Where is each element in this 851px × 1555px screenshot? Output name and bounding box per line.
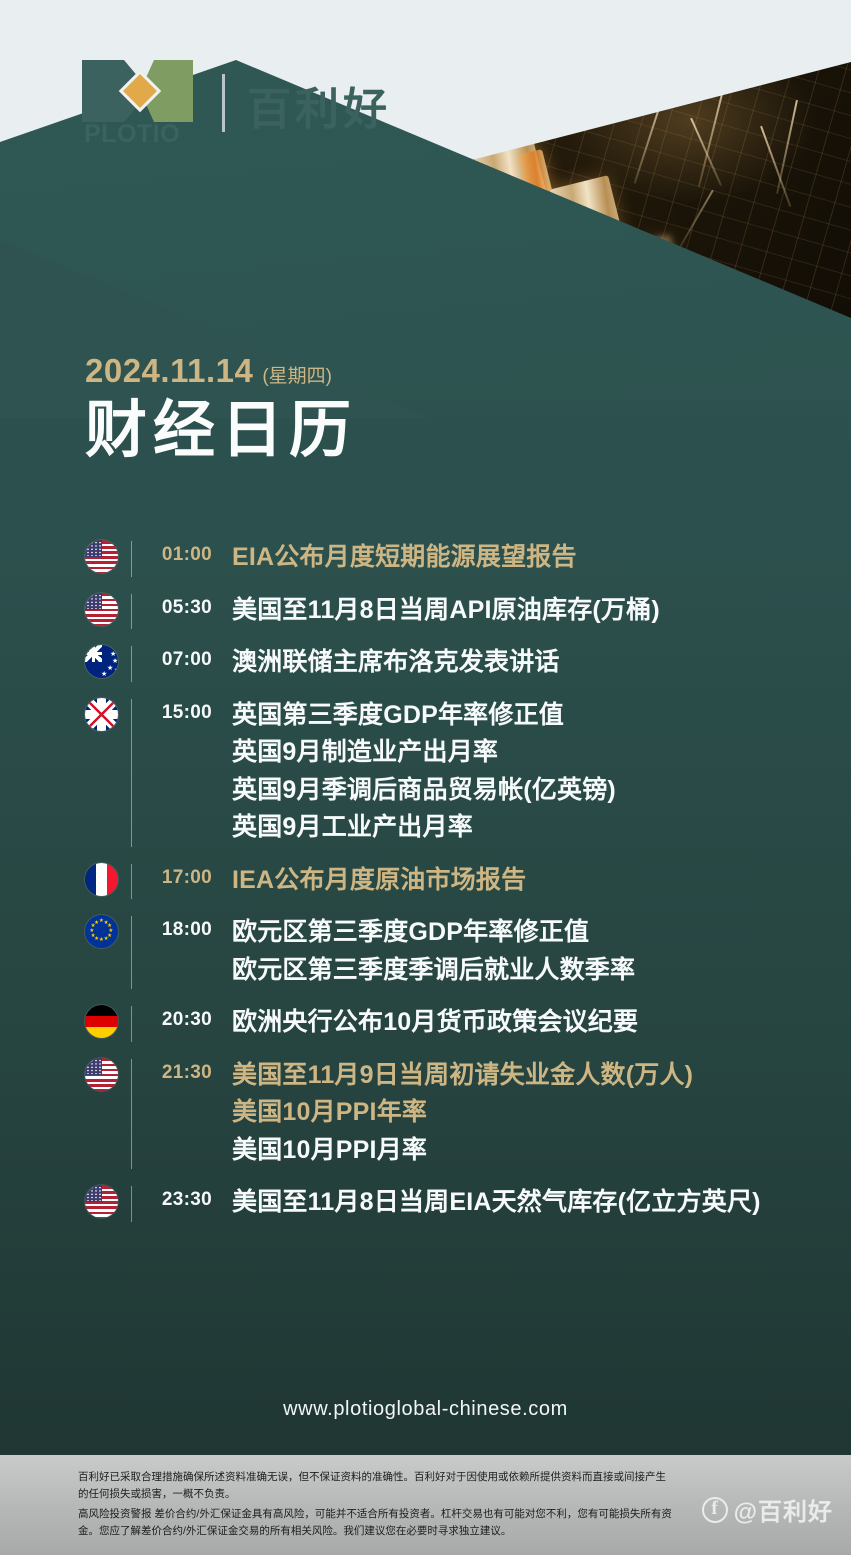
disclaimer-line-3: 高风险投资警报 差价合约/外汇保证金具有高风险，可能并不适合所有投资者。杠杆交易… — [78, 1506, 791, 1523]
logo-mark-icon: PLOTIO — [82, 60, 204, 146]
disclaimer-line-2: 的任何损失或损害，一概不负责。 — [78, 1486, 791, 1503]
event-row: 01:00EIA公布月度短期能源展望报告 — [0, 538, 851, 577]
event-titles: 美国至11月9日当周初请失业金人数(万人)美国10月PPI年率美国10月PPI月… — [232, 1056, 693, 1170]
event-titles: 欧元区第三季度GDP年率修正值欧元区第三季度季调后就业人数季率 — [232, 913, 635, 989]
gb-flag-icon — [85, 698, 118, 731]
event-titles: 澳洲联储主席布洛克发表讲话 — [232, 643, 560, 682]
event-time: 20:30 — [150, 1003, 212, 1031]
event-flag-cell — [85, 861, 129, 896]
event-row-divider — [131, 1186, 132, 1222]
hero-title-block: 2024.11.14 (星期四) 财经日历 — [85, 352, 357, 465]
event-title: 英国第三季度GDP年率修正值 — [232, 697, 616, 735]
event-time: 01:00 — [150, 538, 212, 566]
event-title: 欧元区第三季度季调后就业人数季率 — [232, 952, 635, 990]
event-title: 美国至11月9日当周初请失业金人数(万人) — [232, 1057, 693, 1095]
logo-divider — [222, 74, 225, 132]
event-row-divider — [131, 916, 132, 989]
event-time: 23:30 — [150, 1183, 212, 1211]
event-time: 05:30 — [150, 591, 212, 619]
event-title: 美国10月PPI年率 — [232, 1094, 693, 1132]
event-row: 23:30美国至11月8日当周EIA天然气库存(亿立方英尺) — [0, 1183, 851, 1222]
event-row-divider — [131, 864, 132, 900]
event-row: 15:00英国第三季度GDP年率修正值英国9月制造业产出月率英国9月季调后商品贸… — [0, 696, 851, 847]
event-flag-cell — [85, 1183, 129, 1218]
event-title: 英国9月工业产出月率 — [232, 809, 616, 847]
event-title: 美国至11月8日当周API原油库存(万桶) — [232, 592, 660, 630]
poster-date: 2024.11.14 — [85, 352, 253, 390]
event-row-divider — [131, 1006, 132, 1042]
event-time: 15:00 — [150, 696, 212, 724]
watermark-handle: @百利好 — [734, 1492, 833, 1527]
event-row: 05:30美国至11月8日当周API原油库存(万桶) — [0, 591, 851, 630]
event-time: 21:30 — [150, 1056, 212, 1084]
event-titles: IEA公布月度原油市场报告 — [232, 861, 526, 900]
event-row-divider — [131, 699, 132, 847]
au-flag-icon: ★★★★★ — [85, 645, 118, 678]
event-titles: 英国第三季度GDP年率修正值英国9月制造业产出月率英国9月季调后商品贸易帐(亿英… — [232, 696, 616, 847]
event-time: 17:00 — [150, 861, 212, 889]
event-title: EIA公布月度短期能源展望报告 — [232, 539, 577, 577]
event-row: 20:30欧洲央行公布10月货币政策会议纪要 — [0, 1003, 851, 1042]
event-row-divider — [131, 646, 132, 682]
event-title: IEA公布月度原油市场报告 — [232, 862, 526, 900]
us-flag-icon — [85, 540, 118, 573]
event-row-divider — [131, 541, 132, 577]
event-flag-cell — [85, 538, 129, 573]
event-title: 美国10月PPI月率 — [232, 1132, 693, 1170]
event-row: ★★★★★07:00澳洲联储主席布洛克发表讲话 — [0, 643, 851, 682]
event-list: 01:00EIA公布月度短期能源展望报告05:30美国至11月8日当周API原油… — [0, 538, 851, 1236]
event-titles: 美国至11月8日当周API原油库存(万桶) — [232, 591, 660, 630]
disclaimer-line-1: 百利好已采取合理措施确保所述资料准确无误，但不保证资料的准确性。百利好对于因使用… — [78, 1469, 791, 1486]
event-flag-cell: ★★★★★ — [85, 643, 129, 678]
event-title: 澳洲联储主席布洛克发表讲话 — [232, 644, 560, 682]
event-title: 英国9月季调后商品贸易帐(亿英镑) — [232, 772, 616, 810]
event-row: ★★★★★★★★★★★★18:00欧元区第三季度GDP年率修正值欧元区第三季度季… — [0, 913, 851, 989]
event-row-divider — [131, 1059, 132, 1170]
social-watermark: f @百利好 — [702, 1492, 833, 1527]
us-flag-icon — [85, 1058, 118, 1091]
event-title: 欧洲央行公布10月货币政策会议纪要 — [232, 1004, 638, 1042]
us-flag-icon — [85, 593, 118, 626]
brand-chinese-name: 百利好 — [247, 88, 391, 146]
de-flag-icon — [85, 1005, 118, 1038]
event-flag-cell — [85, 591, 129, 626]
event-titles: 美国至11月8日当周EIA天然气库存(亿立方英尺) — [232, 1183, 761, 1222]
event-row-divider — [131, 594, 132, 630]
event-title: 欧元区第三季度GDP年率修正值 — [232, 914, 635, 952]
event-title: 美国至11月8日当周EIA天然气库存(亿立方英尺) — [232, 1184, 761, 1222]
financial-calendar-poster: PLOTIO 百利好 2024.11.14 (星期四) 财经日历 01:00EI… — [0, 0, 851, 1555]
event-row: 21:30美国至11月9日当周初请失业金人数(万人)美国10月PPI年率美国10… — [0, 1056, 851, 1170]
date-line: 2024.11.14 (星期四) — [85, 352, 357, 390]
event-titles: EIA公布月度短期能源展望报告 — [232, 538, 577, 577]
event-row: 17:00IEA公布月度原油市场报告 — [0, 861, 851, 900]
plotio-logo[interactable]: PLOTIO 百利好 — [82, 60, 391, 146]
logo-wordmark: PLOTIO — [84, 122, 180, 147]
event-flag-cell — [85, 696, 129, 731]
us-flag-icon — [85, 1185, 118, 1218]
event-flag-cell: ★★★★★★★★★★★★ — [85, 913, 129, 948]
event-time: 07:00 — [150, 643, 212, 671]
fr-flag-icon — [85, 863, 118, 896]
eu-flag-icon: ★★★★★★★★★★★★ — [85, 915, 118, 948]
event-titles: 欧洲央行公布10月货币政策会议纪要 — [232, 1003, 638, 1042]
facebook-icon: f — [702, 1497, 728, 1523]
event-flag-cell — [85, 1003, 129, 1038]
event-title: 英国9月制造业产出月率 — [232, 734, 616, 772]
website-url[interactable]: www.plotioglobal-chinese.com — [0, 1398, 851, 1421]
poster-weekday: (星期四) — [262, 361, 332, 388]
disclaimer-line-4: 金。您应了解差价合约/外汇保证金交易的所有相关风险。我们建议您在必要时寻求独立建… — [78, 1523, 791, 1540]
event-flag-cell — [85, 1056, 129, 1091]
event-time: 18:00 — [150, 913, 212, 941]
page-title: 财经日历 — [85, 398, 357, 465]
